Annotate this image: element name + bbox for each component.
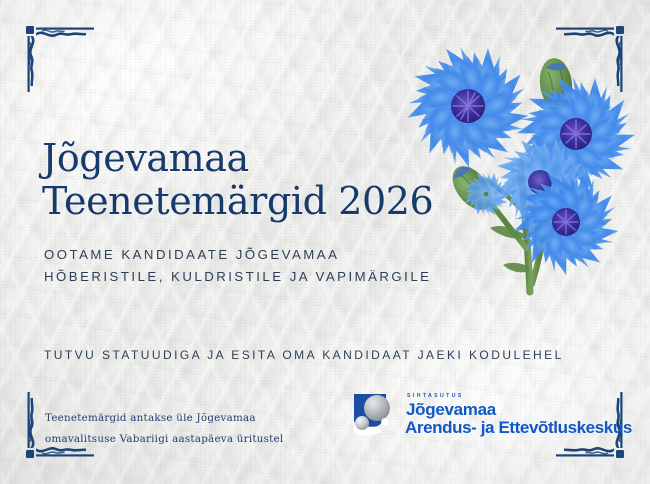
corner-ornament-top-left [8, 8, 104, 100]
logo-name-line-one: Jõgevamaa [406, 401, 632, 418]
organization-logo[interactable]: SIHTASUTUS Jõgevamaa Arendus- ja Ettevõt… [352, 392, 632, 438]
logo-wordmark: SIHTASUTUS Jõgevamaa Arendus- ja Ettevõt… [405, 394, 632, 436]
footnote-text: Teenetemärgid antakse üle Jõgevamaa omav… [45, 408, 283, 449]
call-to-action-text: TUTVU STATUUDIGA JA ESITA OMA KANDIDAAT … [44, 348, 564, 362]
logo-kicker-text: SIHTASUTUS [407, 394, 632, 399]
logo-name-line-two: Arendus- ja Ettevõtluskeskus [405, 419, 632, 436]
poster-canvas: Jõgevamaa Teenetemärgid 2026 OOTAME KAND… [0, 0, 650, 484]
corner-ornament-top-right [546, 8, 642, 100]
jaek-logo-mark [352, 392, 398, 438]
subtitle-text: OOTAME KANDIDAATE JÕGEVAMAA HÕBERISTILE,… [44, 244, 431, 288]
page-title: Jõgevamaa Teenetemärgid 2026 [42, 137, 433, 222]
